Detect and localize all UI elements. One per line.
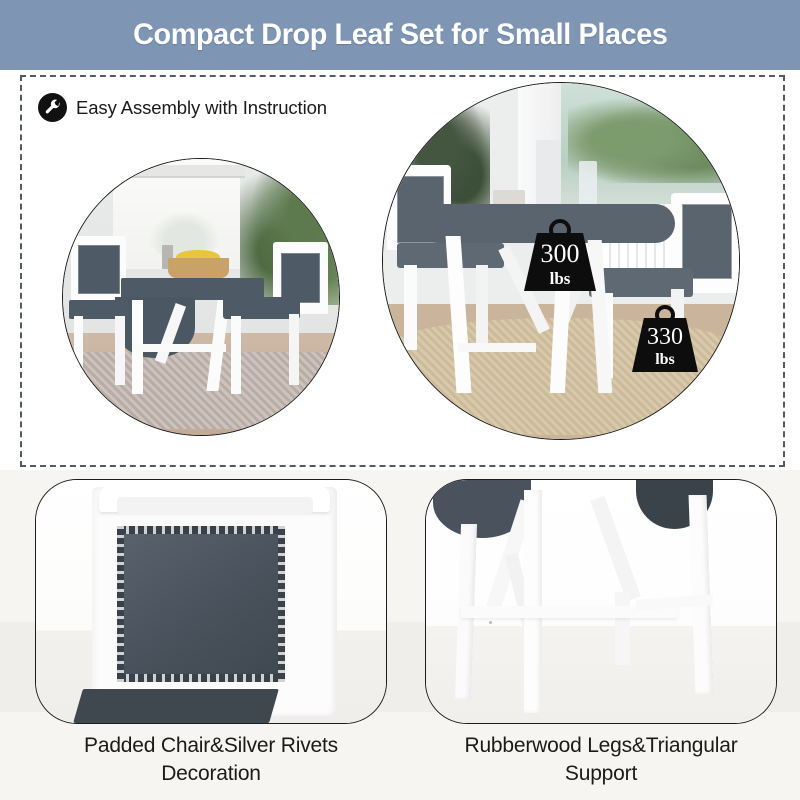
- left-chair-leg-back: [115, 316, 124, 385]
- silver-rivets-left: [117, 526, 124, 682]
- chair-rail-gap: [117, 497, 313, 514]
- right-chair-pad: [281, 253, 320, 303]
- caption-line-2: Support: [416, 760, 786, 788]
- assembly-screw: [489, 621, 492, 624]
- glass: [579, 161, 597, 207]
- weight-body: 300 lbs: [524, 233, 596, 291]
- silver-rivets-right: [278, 526, 285, 682]
- fruit-basket: [168, 258, 229, 277]
- silver-rivets-top: [117, 526, 285, 534]
- table-foot-rail: [458, 343, 536, 352]
- chair-padded-panel: [117, 526, 285, 682]
- left-chair-leg-back: [476, 265, 489, 343]
- silver-rivets-bottom: [117, 674, 285, 682]
- caption-line-1: Rubberwood Legs&Triangular: [416, 732, 786, 760]
- page-title: Compact Drop Leaf Set for Small Places: [133, 18, 667, 52]
- rubberwood-leg-b: [524, 490, 542, 714]
- wrench-icon: [38, 93, 67, 122]
- easy-assembly-badge: Easy Assembly with Instruction: [38, 93, 327, 122]
- easy-assembly-label: Easy Assembly with Instruction: [76, 97, 327, 119]
- rubberwood-legs-caption: Rubberwood Legs&Triangular Support: [416, 732, 786, 788]
- left-chair-pad: [78, 245, 119, 295]
- padded-chair-caption: Padded Chair&Silver Rivets Decoration: [26, 732, 396, 788]
- weight-body: 330 lbs: [632, 318, 698, 372]
- table-weight-capacity-badge: 300 lbs: [524, 233, 596, 291]
- table-stretcher: [132, 344, 226, 352]
- pitcher: [536, 140, 561, 211]
- left-scene: [63, 159, 339, 435]
- window-blind: [107, 165, 245, 179]
- chair-weight-capacity-badge: 330 lbs: [632, 318, 698, 372]
- weight-value: 300: [541, 241, 580, 267]
- rubberwood-legs-feature-card: [425, 479, 777, 724]
- bottom-feature-section: Padded Chair&Silver Rivets Decoration Ru…: [0, 470, 800, 800]
- left-chair-leg-front: [74, 316, 83, 393]
- padded-chair-feature-card: [35, 479, 387, 724]
- weight-unit: lbs: [655, 352, 675, 368]
- weight-value: 330: [647, 325, 683, 349]
- left-chair-leg-front: [404, 265, 417, 350]
- weight-unit: lbs: [550, 270, 571, 287]
- compact-drop-leaf-dining-set-photo: [62, 158, 340, 436]
- right-chair-leg-back: [289, 314, 299, 386]
- caption-line-2: Decoration: [26, 760, 396, 788]
- rubberwood-leg-d: [615, 592, 630, 665]
- chair-seat-edge: [73, 689, 279, 723]
- right-chair-leg-front: [231, 316, 241, 393]
- top-feature-section: Easy Assembly with Instruction: [0, 70, 800, 470]
- header-bar: Compact Drop Leaf Set for Small Places: [0, 0, 800, 70]
- caption-line-1: Padded Chair&Silver Rivets: [26, 732, 396, 760]
